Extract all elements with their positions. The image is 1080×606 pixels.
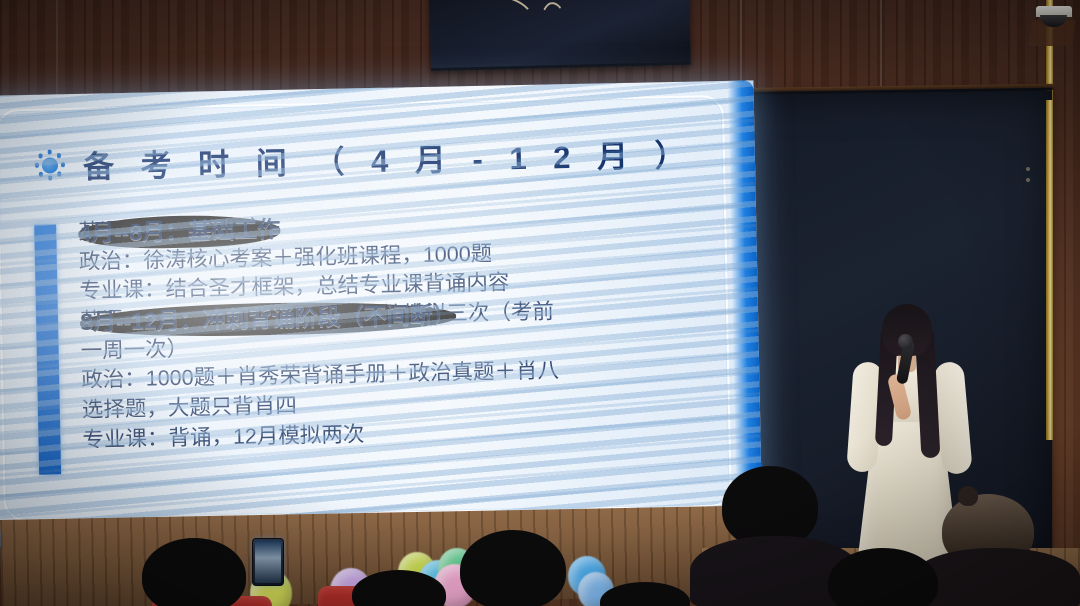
audience-head [460,530,566,606]
sun-core [42,157,58,173]
dome-camera-icon [1036,6,1072,26]
sun-icon [33,148,68,183]
accent-bar [34,224,61,474]
wall-seam [56,0,58,96]
blackboard-knob [1026,167,1030,171]
sun-ray [48,176,52,180]
projection-screen: 备 考 时 间 （ 4 月 - 1 2 月 ） 4月--8月：基础工作 英语：单… [0,80,762,547]
phone-display [255,541,281,583]
slide-title: 备 考 时 间 （ 4 月 - 1 2 月 ） [82,130,695,187]
microphone-head [898,334,913,349]
sun-ray [38,154,42,158]
slide-line-list: 4月--8月：基础工作 英语：单词（APP） 政治：徐涛核心考案＋强化班课程，1… [78,206,701,474]
slide-body: 4月--8月：基础工作 英语：单词（APP） 政治：徐涛核心考案＋强化班课程，1… [34,206,701,475]
blackboard-knob [1026,178,1030,182]
audience-head [142,538,246,606]
sun-ray [61,162,65,166]
sun-ray [35,163,39,167]
sun-ray [57,153,61,157]
sun-ray [47,150,51,154]
audience-head [958,486,978,506]
sun-ray [57,172,61,176]
slide: 备 考 时 间 （ 4 月 - 1 2 月 ） 4月--8月：基础工作 英语：单… [0,80,762,547]
phone-screen [252,538,284,586]
wall-seam [880,0,882,86]
wall-seam [740,0,742,86]
camera-lens [1040,15,1067,27]
slide-title-row: 备 考 时 间 （ 4 月 - 1 2 月 ） [32,130,695,188]
screenshot-root: 备 考 时 间 （ 4 月 - 1 2 月 ） 4月--8月：基础工作 英语：单… [0,0,1080,606]
sun-ray [39,172,43,176]
wall-trim-right [1046,100,1053,440]
